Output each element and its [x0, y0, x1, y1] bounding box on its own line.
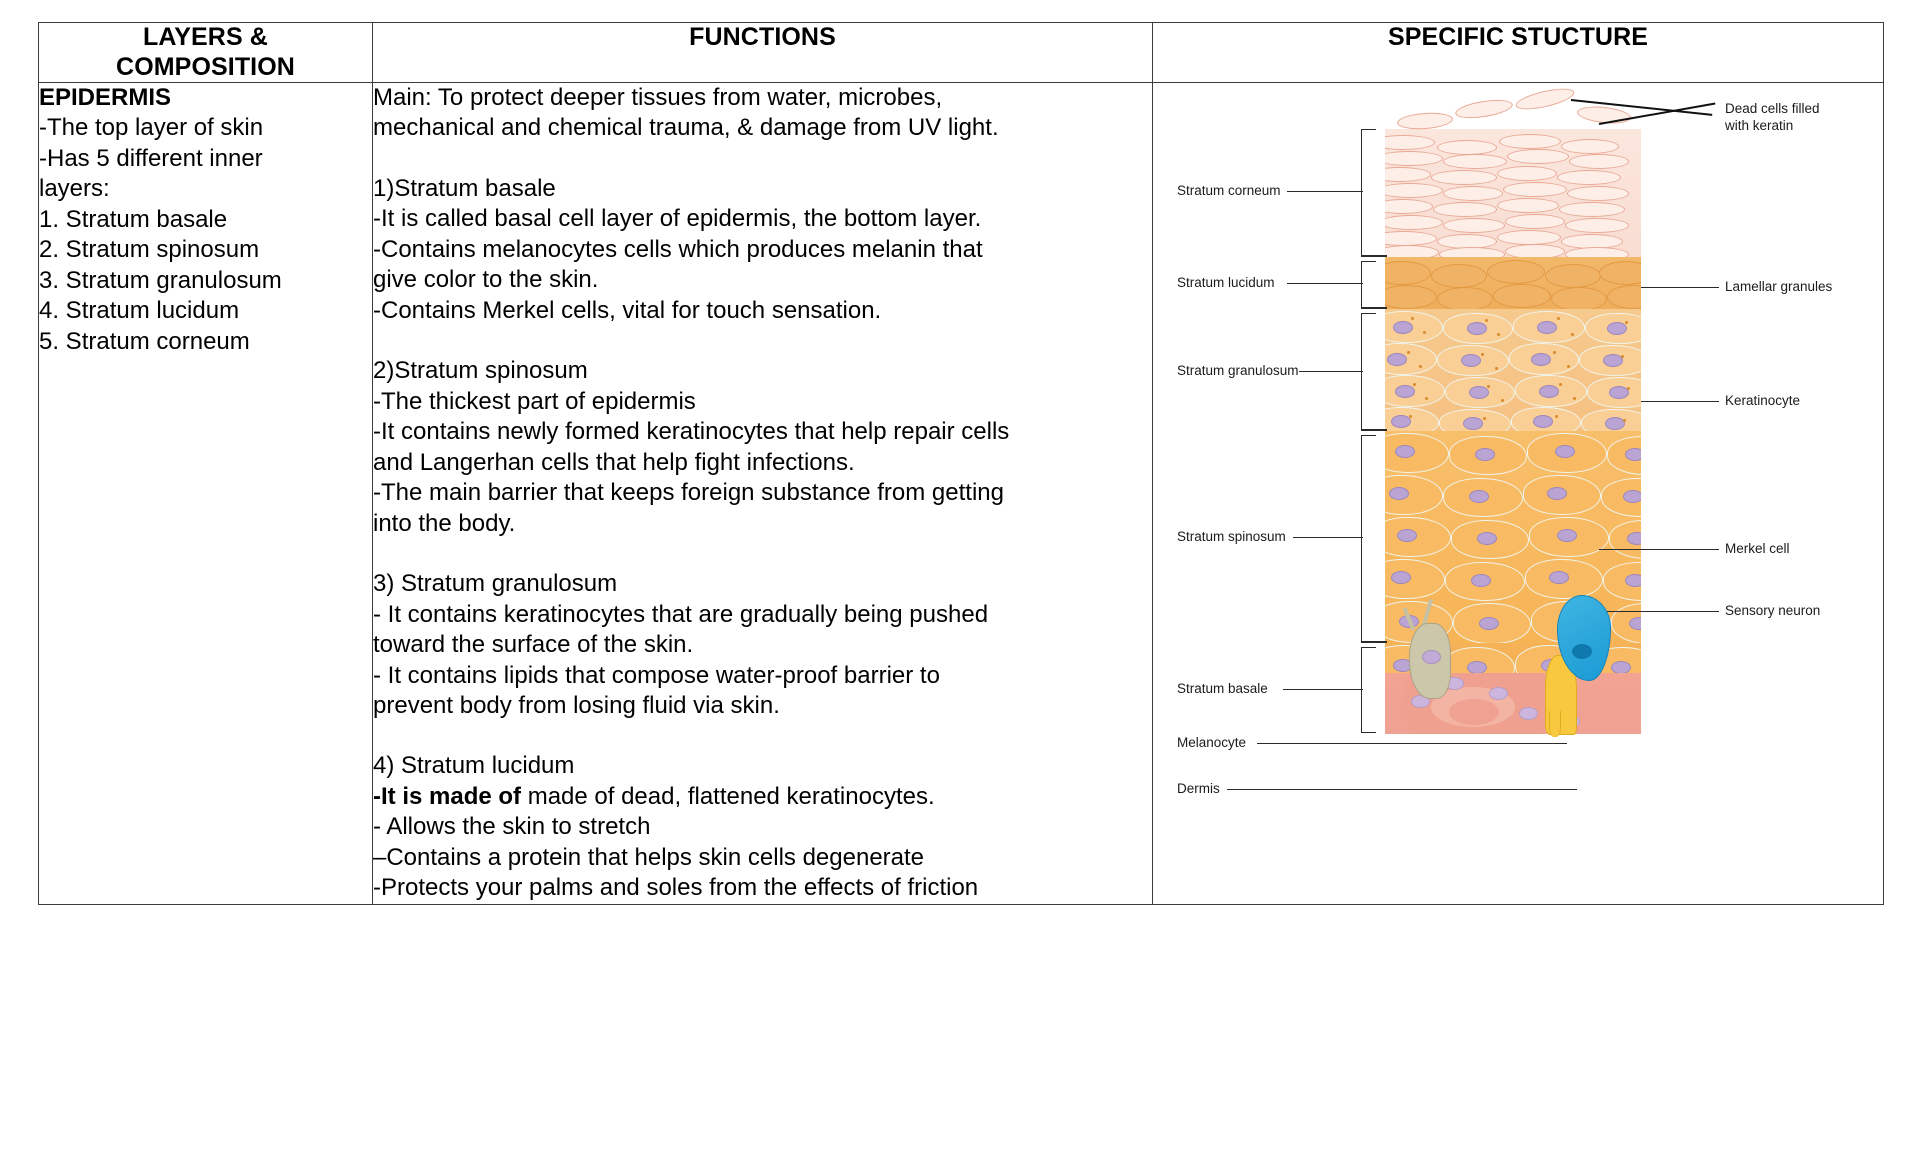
column-header-structure-line1: SPECIFIC STUCTURE — [1153, 23, 1883, 53]
section-4-line-1-rest: made of dead, flattened keratinocytes. — [521, 783, 935, 810]
leader-dermis — [1227, 789, 1577, 790]
label-sensory-neuron: Sensory neuron — [1725, 603, 1820, 620]
layer-stratum-granulosum — [1385, 309, 1641, 431]
tick-spinosum-basale — [1361, 641, 1387, 643]
sensory-neuron-axon — [1549, 711, 1561, 737]
layers-line-2: -Has 5 different inner — [39, 144, 372, 174]
section-4-line-2: - Allows the skin to stretch — [373, 812, 1152, 842]
melanocyte-nucleus — [1422, 650, 1441, 664]
label-merkel-cell: Merkel cell — [1725, 541, 1790, 558]
section-3-line-2: toward the surface of the skin. — [373, 630, 1152, 660]
layers-line-3: layers: — [39, 174, 372, 204]
section-2-line-2: -It contains newly formed keratinocytes … — [373, 417, 1152, 447]
section-2-line-4: -The main barrier that keeps foreign sub… — [373, 478, 1152, 508]
label-dead-cells-line1: Dead cells filled — [1725, 101, 1820, 116]
bracket-stratum-lucidum — [1361, 261, 1376, 309]
column-header-layers: LAYERS & COMPOSITION — [39, 23, 373, 83]
section-1-line-2: -Contains melanocytes cells which produc… — [373, 235, 1152, 265]
leader-stratum-basale — [1283, 689, 1363, 690]
leader-merkel-cell — [1599, 549, 1719, 550]
leader-melanocyte — [1257, 743, 1567, 744]
section-3-line-3: - It contains lipids that compose water-… — [373, 661, 1152, 691]
epidermis-diagram: Dead cells filled with keratin Lamellar … — [1153, 83, 1882, 873]
layers-list-item-1: 1. Stratum basale — [39, 205, 372, 235]
skin-layers-table: LAYERS & COMPOSITION FUNCTIONS SPECIFIC … — [38, 22, 1884, 905]
column-header-functions-line1: FUNCTIONS — [373, 23, 1152, 53]
epidermis-title: EPIDERMIS — [39, 83, 372, 113]
leader-stratum-lucidum — [1287, 283, 1363, 284]
section-4-line-4: -Protects your palms and soles from the … — [373, 873, 1152, 903]
section-1-line-1: -It is called basal cell layer of epider… — [373, 204, 1152, 234]
section-3-title: 3) Stratum granulosum — [373, 569, 1152, 599]
bracket-stratum-spinosum — [1361, 435, 1376, 643]
leader-stratum-granulosum — [1299, 371, 1363, 372]
bracket-stratum-corneum — [1361, 129, 1376, 257]
section-4-line-1: -It is made of made of dead, flattened k… — [373, 782, 1152, 812]
melanocyte-cell — [1409, 623, 1451, 699]
section-3-line-1: - It contains keratinocytes that are gra… — [373, 600, 1152, 630]
column-header-layers-line1: LAYERS & — [39, 23, 372, 53]
label-stratum-lucidum: Stratum lucidum — [1177, 275, 1275, 292]
label-stratum-basale: Stratum basale — [1177, 681, 1268, 698]
layer-stratum-lucidum — [1385, 257, 1641, 309]
column-header-structure: SPECIFIC STUCTURE — [1153, 23, 1884, 83]
layer-stratum-corneum — [1385, 129, 1641, 257]
spacer-3 — [373, 539, 1152, 569]
table-header-row: LAYERS & COMPOSITION FUNCTIONS SPECIFIC … — [39, 23, 1884, 83]
spacer-4 — [373, 721, 1152, 751]
section-2-line-3: and Langerhan cells that help fight infe… — [373, 448, 1152, 478]
functions-main-line2: mechanical and chemical trauma, & damage… — [373, 113, 1152, 143]
section-1-line-4: -Contains Merkel cells, vital for touch … — [373, 296, 1152, 326]
leader-stratum-corneum — [1287, 191, 1363, 192]
label-dermis: Dermis — [1177, 781, 1220, 798]
label-stratum-spinosum: Stratum spinosum — [1177, 529, 1286, 546]
section-1-title: 1)Stratum basale — [373, 174, 1152, 204]
layers-list-item-4: 4. Stratum lucidum — [39, 296, 372, 326]
tick-corneum-lucidum — [1361, 255, 1387, 257]
label-dead-cells-filled-with-keratin: Dead cells filled with keratin — [1725, 101, 1820, 135]
table-row-epidermis: EPIDERMIS -The top layer of skin -Has 5 … — [39, 83, 1884, 905]
layers-line-1: -The top layer of skin — [39, 113, 372, 143]
spacer-1 — [373, 144, 1152, 174]
leader-lamellar-granules — [1641, 287, 1719, 288]
leader-keratinocyte — [1641, 401, 1719, 402]
functions-main-line1: Main: To protect deeper tissues from wat… — [373, 83, 1152, 113]
section-3-line-4: prevent body from losing fluid via skin. — [373, 691, 1152, 721]
free-dead-cell-4 — [1397, 111, 1454, 131]
layers-list-item-3: 3. Stratum granulosum — [39, 266, 372, 296]
label-stratum-granulosum: Stratum granulosum — [1177, 363, 1299, 380]
column-header-functions: FUNCTIONS — [373, 23, 1153, 83]
cell-functions: Main: To protect deeper tissues from wat… — [373, 83, 1153, 905]
layers-list-item-5: 5. Stratum corneum — [39, 327, 372, 357]
section-2-title: 2)Stratum spinosum — [373, 356, 1152, 386]
section-2-line-5: into the body. — [373, 509, 1152, 539]
bracket-stratum-granulosum — [1361, 313, 1376, 431]
cell-specific-structure: Dead cells filled with keratin Lamellar … — [1153, 83, 1884, 905]
label-lamellar-granules: Lamellar granules — [1725, 279, 1832, 296]
section-4-line-1-bold: -It is made of — [373, 783, 521, 810]
section-4-line-3: –Contains a protein that helps skin cell… — [373, 843, 1152, 873]
label-dead-cells-line2: with keratin — [1725, 118, 1793, 133]
spacer-2 — [373, 326, 1152, 356]
section-1-line-3: give color to the skin. — [373, 265, 1152, 295]
cell-layers-composition: EPIDERMIS -The top layer of skin -Has 5 … — [39, 83, 373, 905]
section-2-line-1: -The thickest part of epidermis — [373, 387, 1152, 417]
leader-stratum-spinosum — [1293, 537, 1363, 538]
free-dead-cell-1 — [1454, 97, 1514, 122]
merkel-cell-nucleus — [1572, 644, 1592, 659]
free-dead-cell-2 — [1514, 84, 1576, 113]
layers-list-item-2: 2. Stratum spinosum — [39, 235, 372, 265]
bracket-stratum-basale — [1361, 647, 1376, 733]
document-page: LAYERS & COMPOSITION FUNCTIONS SPECIFIC … — [0, 0, 1920, 1149]
tick-lucidum-granulosum — [1361, 307, 1387, 309]
label-keratinocyte: Keratinocyte — [1725, 393, 1800, 410]
column-header-layers-line2: COMPOSITION — [39, 53, 372, 83]
section-4-title: 4) Stratum lucidum — [373, 751, 1152, 781]
label-melanocyte: Melanocyte — [1177, 735, 1246, 752]
label-stratum-corneum: Stratum corneum — [1177, 183, 1281, 200]
tick-granulosum-spinosum — [1361, 429, 1387, 431]
